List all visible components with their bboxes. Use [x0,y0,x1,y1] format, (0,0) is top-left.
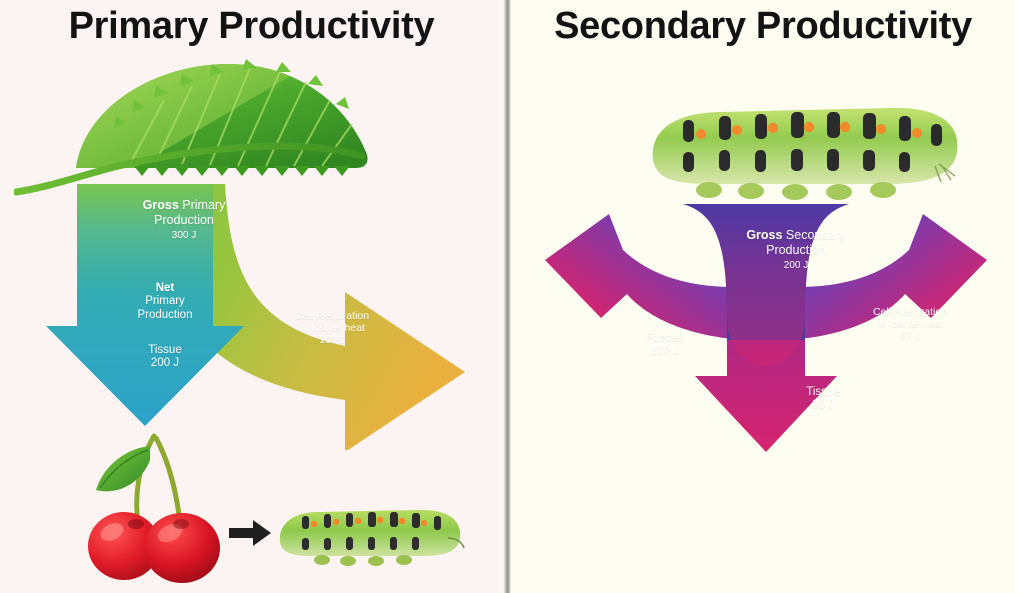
cherries-illustration [84,432,229,584]
primary-tissue-label: Tissue 200 J [104,344,226,371]
secondary-respiration-line1: Cell Respiration [873,306,947,318]
secondary-respiration-line2: or lost as heat [877,318,943,330]
gross-secondary-value: 200 J [784,260,808,271]
panel-divider [503,0,511,593]
gross-secondary-production-label: Gross Secondary Production 200 J [711,228,881,272]
net-primary-bold: Net [156,282,175,294]
primary-tissue-text: Tissue [148,344,181,356]
faeces-text: Faeces [646,332,684,344]
secondary-tissue-value: 33 J [812,399,834,411]
net-primary-line3: Production [138,309,193,321]
primary-respiration-line2: or lost as heat [299,322,365,334]
primary-panel-title: Primary Productivity [0,0,503,52]
gross-secondary-rest: Secondary [782,228,845,242]
faeces-label: Faeces 100 J [615,332,715,359]
diagram-canvas: Primary Productivity [0,0,1015,593]
secondary-tissue-label: Tissue 33 J [773,386,873,413]
primary-respiration-label: Cell Respiration or lost as heat 100 J [252,310,412,347]
primary-productivity-panel: Primary Productivity [0,0,503,593]
secondary-respiration-value: 67 J [900,330,920,342]
primary-tissue-value: 200 J [151,357,179,369]
secondary-respiration-label: Cell Respiration or lost as heat 67 J [835,306,985,343]
leaf-illustration [14,56,379,206]
caterpillar-illustration-primary [272,498,468,570]
faeces-value: 100 J [651,345,679,357]
net-primary-line2: Primary [145,295,185,307]
primary-respiration-line1: Cell Respiration [295,310,369,322]
net-primary-production-label: Net Primary Production [104,282,226,322]
caterpillar-illustration-secondary [639,94,969,204]
secondary-productivity-panel: Secondary Productivity [511,0,1015,593]
gross-primary-value: 300 J [172,230,196,241]
secondary-panel-title: Secondary Productivity [511,0,1015,52]
secondary-tissue-text: Tissue [806,386,839,398]
primary-respiration-value: 100 J [319,334,345,346]
energy-transfer-arrow-icon [227,518,273,548]
gross-secondary-bold: Gross [746,228,782,242]
gross-secondary-line2: Production [766,243,826,257]
gross-primary-line2: Production [154,213,214,227]
gross-primary-bold: Gross [143,198,179,212]
gross-primary-rest: Primary [179,198,226,212]
gross-primary-production-label: Gross Primary Production 300 J [104,198,264,242]
